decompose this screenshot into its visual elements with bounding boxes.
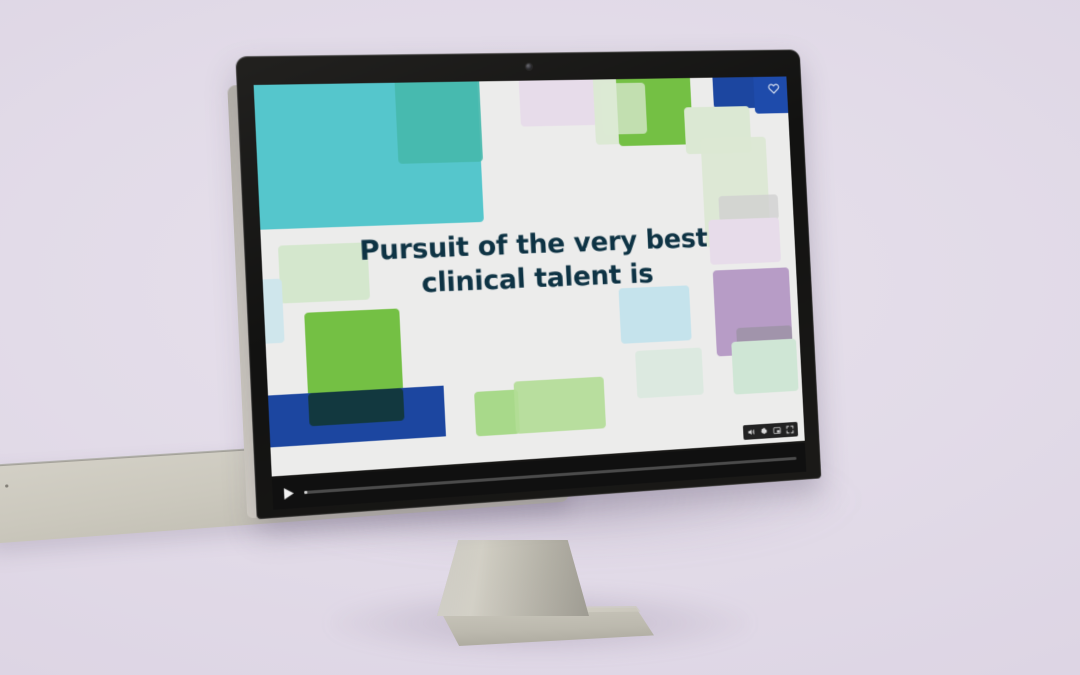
power-indicator	[5, 484, 8, 487]
tile-blue-bottom-bar	[260, 386, 446, 448]
play-icon[interactable]	[283, 486, 295, 500]
tile-green-pale-left	[278, 242, 370, 303]
fullscreen-icon[interactable]	[786, 425, 795, 434]
stand-neck-highlight	[437, 540, 589, 616]
monitor-bezel: Pursuit of the very best clinical talent…	[235, 49, 821, 519]
tile-mint-bottom-right	[731, 339, 798, 395]
monitor-assembly: Pursuit of the very best clinical talent…	[0, 0, 1080, 675]
tile-green-light-bottom-b	[514, 377, 607, 434]
scene: Pursuit of the very best clinical talent…	[0, 0, 1080, 675]
tile-ice-blue-left	[254, 279, 285, 345]
miniplayer-icon[interactable]	[773, 426, 782, 435]
tile-green-pale-center-bottom	[635, 347, 704, 398]
monitor: Pursuit of the very best clinical talent…	[235, 49, 821, 519]
tile-green-light-bottom-a	[474, 389, 520, 436]
gear-icon[interactable]	[760, 427, 769, 436]
tile-green-pale-under-top	[601, 83, 648, 135]
tile-green-big-lower-left	[304, 308, 404, 426]
tile-ice-blue-center-right	[619, 285, 692, 344]
progress-bar[interactable]	[304, 456, 796, 493]
volume-icon[interactable]	[747, 427, 756, 436]
monitor-stand-neck	[437, 540, 589, 616]
progress-fill	[304, 490, 307, 493]
tile-lavender-top	[518, 76, 597, 126]
tile-teal-overlap	[394, 76, 483, 163]
video-player[interactable]: Pursuit of the very best clinical talent…	[254, 76, 805, 476]
tile-overlap-navy	[308, 388, 405, 426]
tile-teal-large	[254, 77, 484, 230]
heart-icon[interactable]	[767, 82, 780, 95]
webcam-icon	[526, 64, 532, 70]
